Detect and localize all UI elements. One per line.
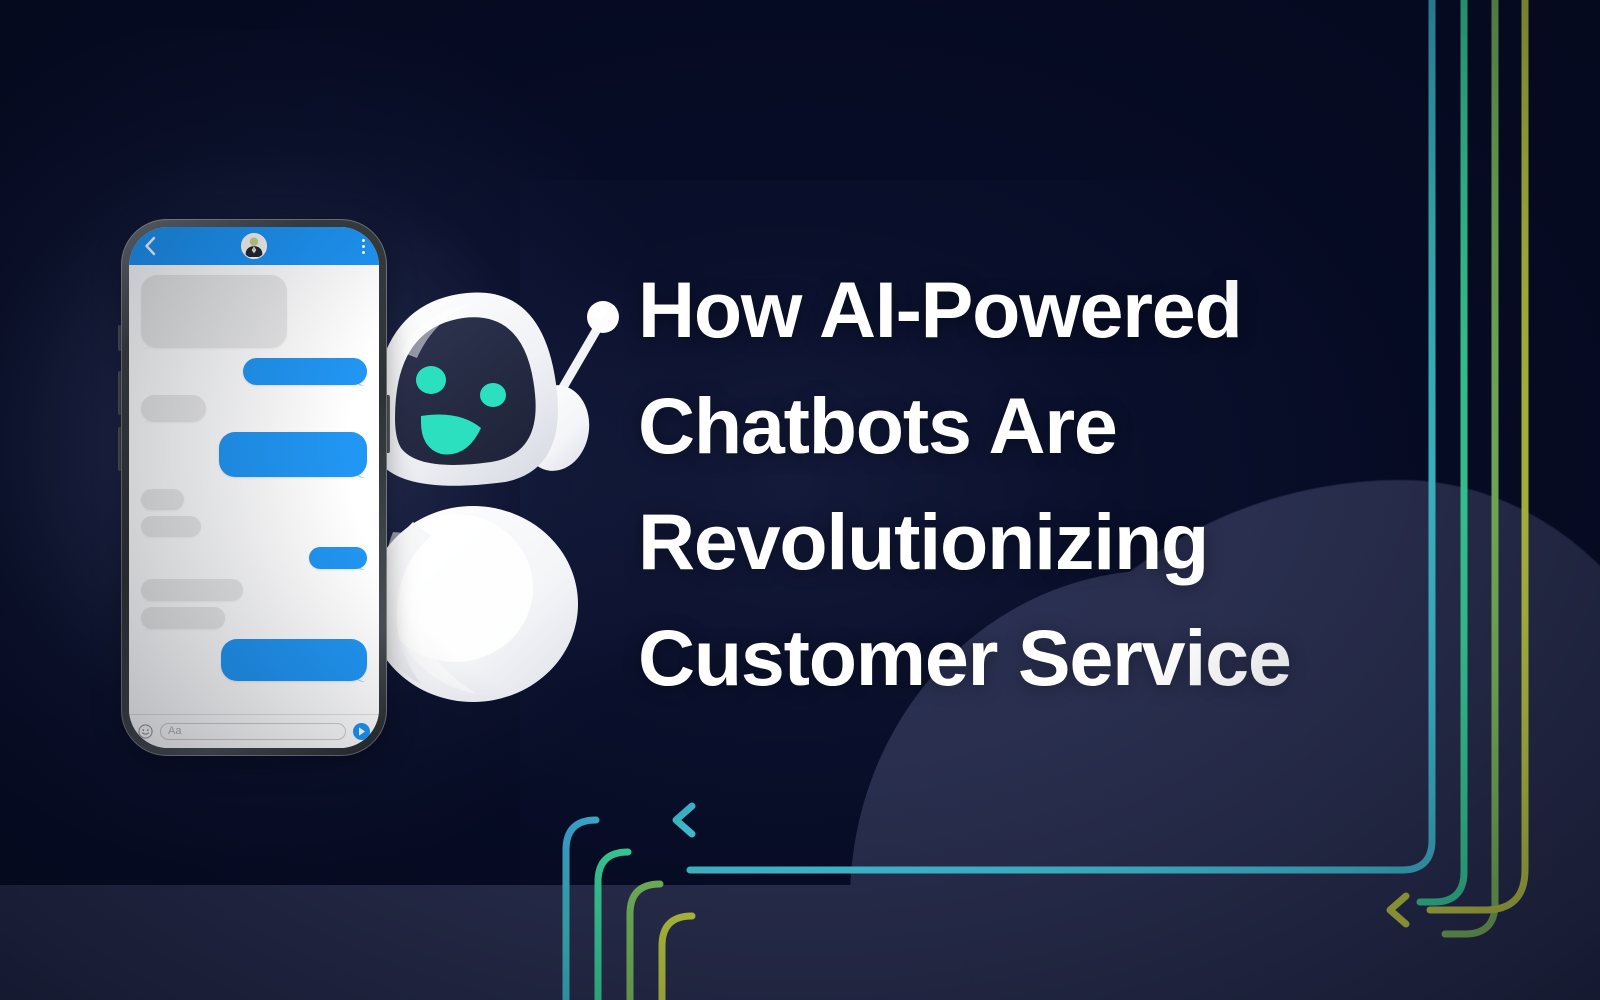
chat-header xyxy=(129,227,379,265)
message-bubble-incoming xyxy=(141,579,243,601)
page-title: How AI-Powered Chatbots Are Revolutioniz… xyxy=(638,252,1418,716)
user-avatar-icon[interactable] xyxy=(241,233,267,259)
message-row xyxy=(141,358,367,385)
message-row xyxy=(141,607,367,629)
message-row xyxy=(141,395,367,422)
message-row xyxy=(141,516,367,537)
message-bubble-incoming xyxy=(141,607,225,629)
send-triangle-icon[interactable] xyxy=(353,723,370,740)
message-bubble-incoming xyxy=(141,275,287,348)
message-bubble-outgoing xyxy=(309,547,367,569)
phone-mockup: Aa xyxy=(121,219,387,756)
three-dots-vertical-icon[interactable] xyxy=(362,239,365,254)
message-input[interactable]: Aa xyxy=(160,723,346,740)
message-row xyxy=(141,489,367,510)
chevron-left-icon[interactable] xyxy=(143,236,157,256)
message-row xyxy=(141,275,367,348)
message-bubble-outgoing xyxy=(221,639,367,681)
phone-screen: Aa xyxy=(129,227,379,748)
message-bubble-outgoing xyxy=(219,432,367,477)
title-line-2: Chatbots Are xyxy=(638,368,1418,484)
message-bubble-incoming xyxy=(141,395,206,422)
message-bubble-incoming xyxy=(141,516,201,537)
title-line-3: Revolutionizing xyxy=(638,484,1418,600)
hero-banner: Aa How AI-Powered Chatbots Are Revolutio… xyxy=(0,0,1600,1000)
chat-message-list xyxy=(129,265,379,714)
message-input-placeholder: Aa xyxy=(168,726,181,737)
message-row xyxy=(141,432,367,477)
message-row xyxy=(141,547,367,569)
phone-frame: Aa xyxy=(121,219,387,756)
chat-input-bar: Aa xyxy=(129,714,379,748)
message-row xyxy=(141,579,367,601)
message-bubble-outgoing xyxy=(243,358,367,385)
title-line-1: How AI-Powered xyxy=(638,252,1418,368)
message-row xyxy=(141,639,367,681)
title-line-4: Customer Service xyxy=(638,600,1418,716)
message-bubble-incoming xyxy=(141,489,184,510)
smiley-face-icon[interactable] xyxy=(138,724,153,739)
